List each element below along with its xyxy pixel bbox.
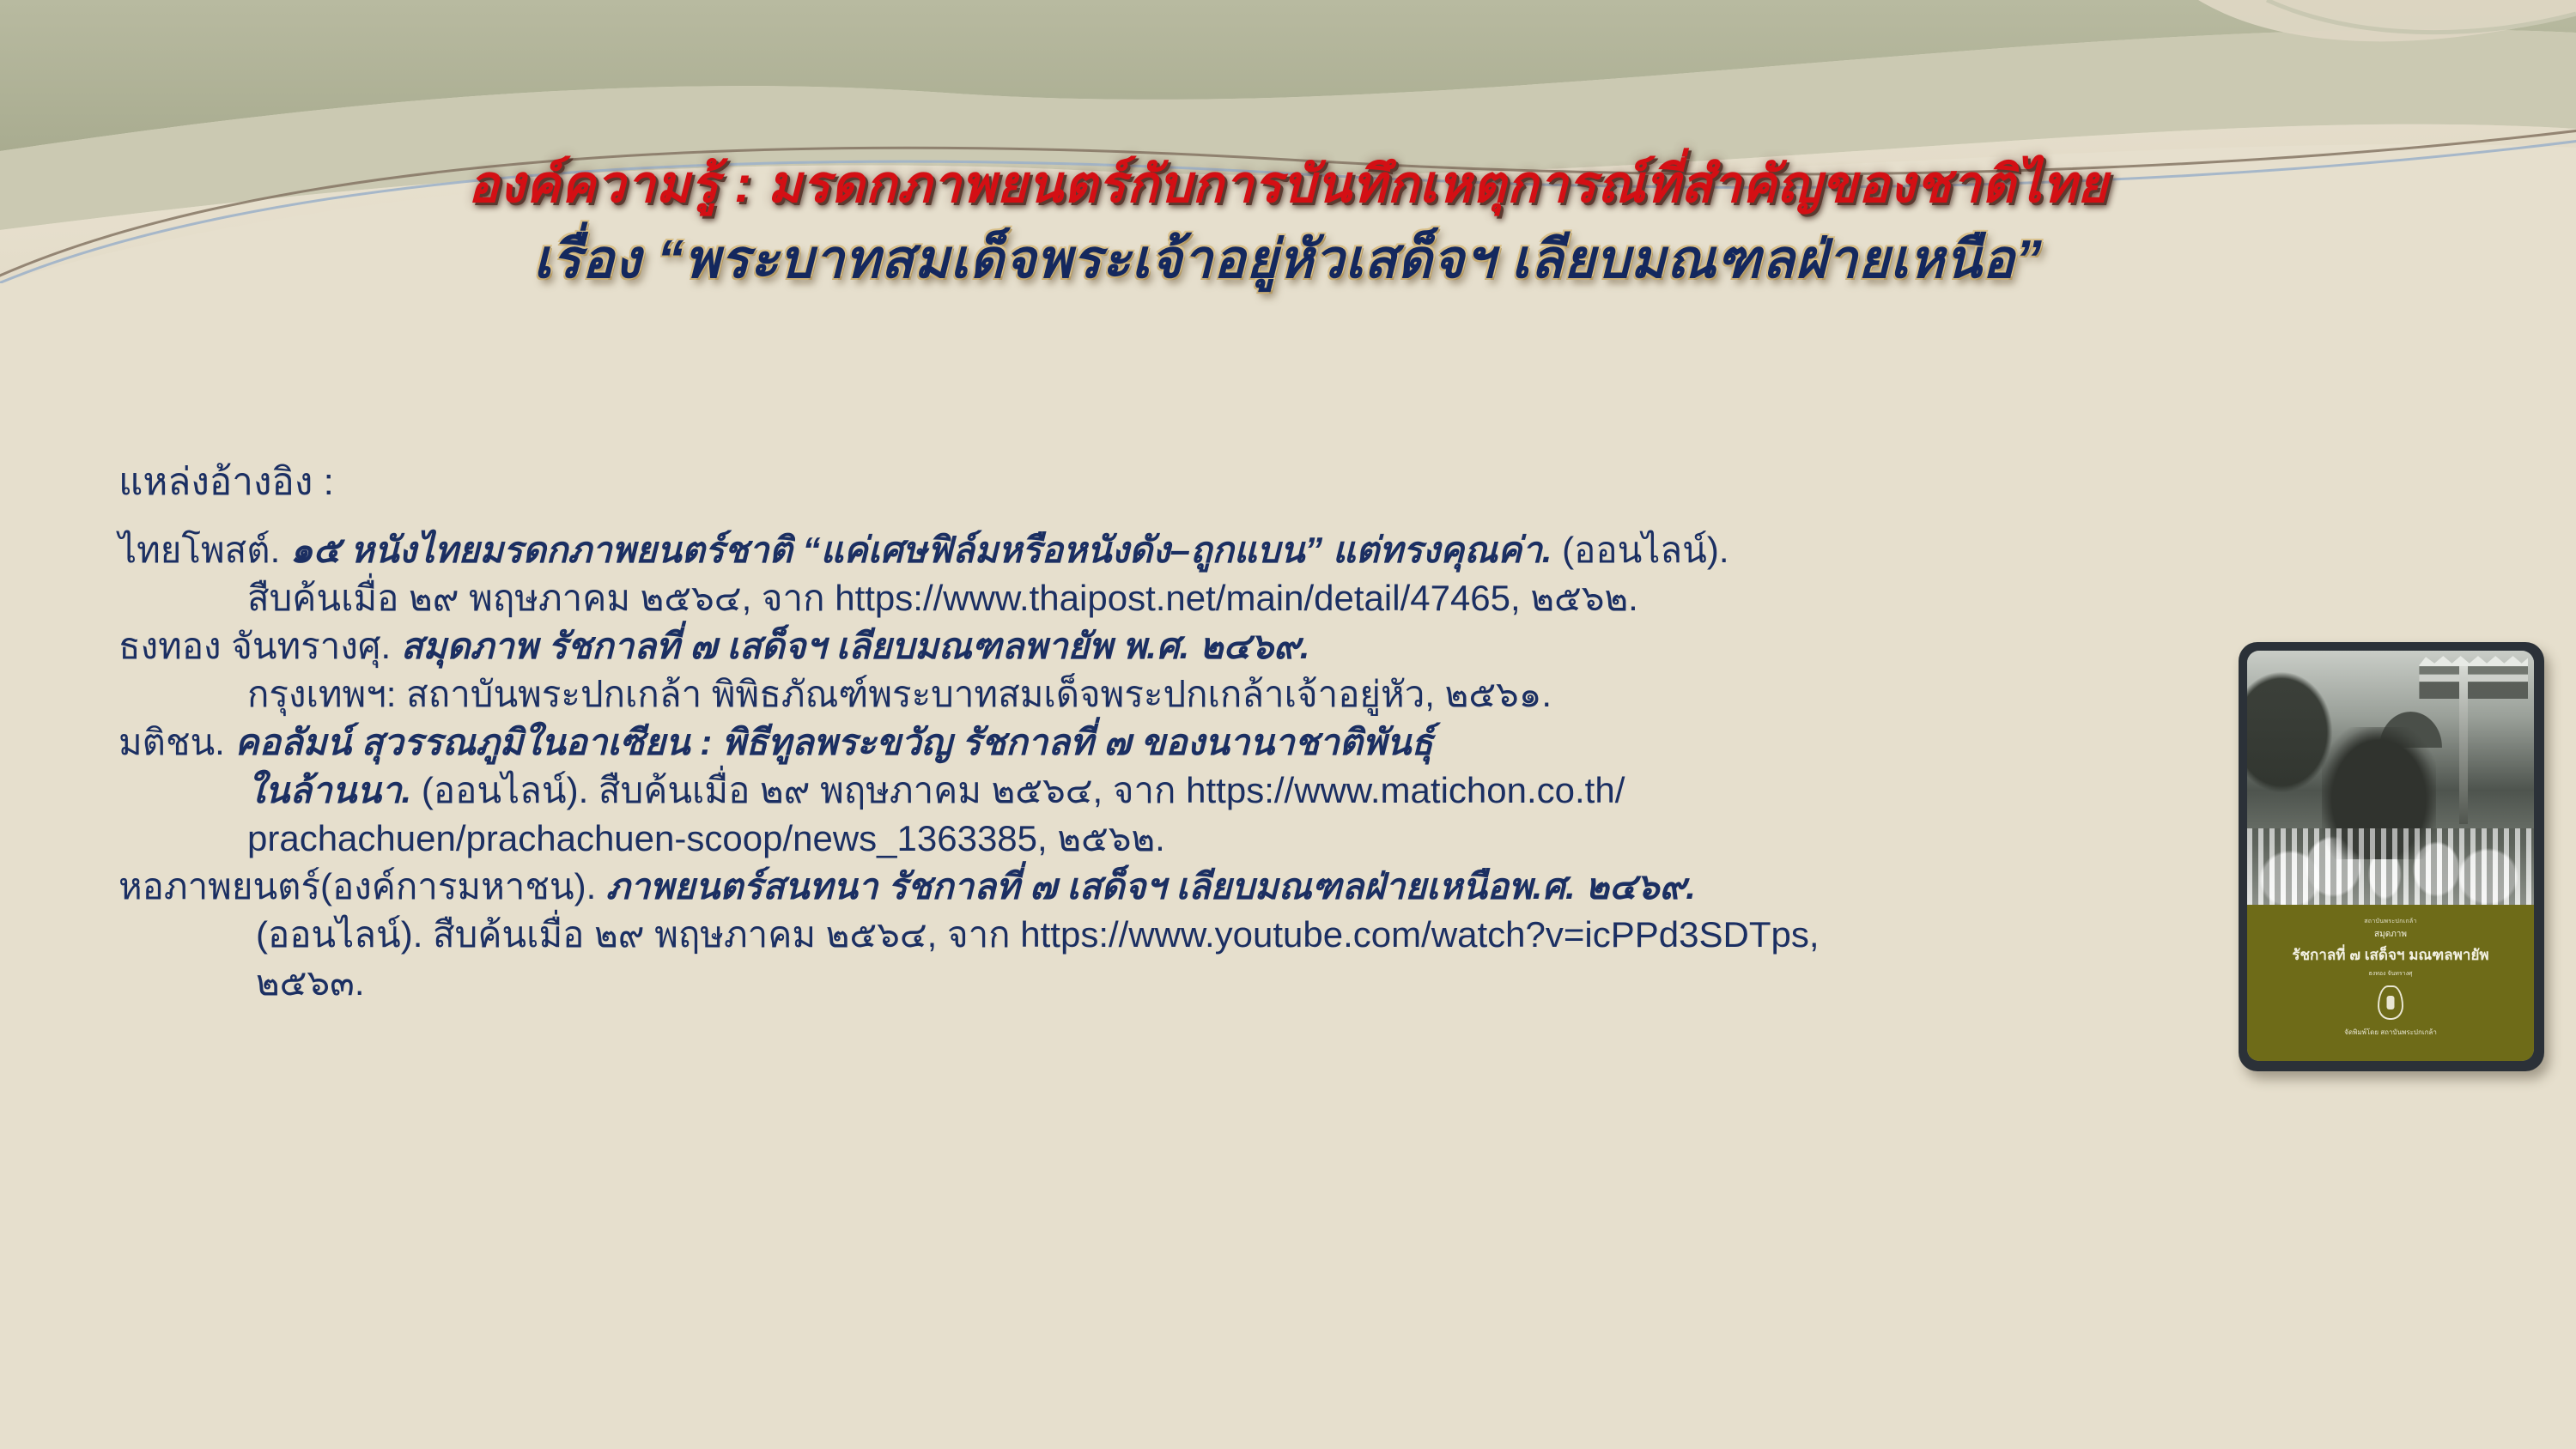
title-line-1: องค์ความรู้ : มรดกภาพยนตร์กับการบันทึกเห… xyxy=(0,153,2576,215)
reference-text: ธงทอง จันทรางศุ. xyxy=(118,626,401,666)
references-heading: แหล่งอ้างอิง : xyxy=(118,464,2437,501)
reference-text: สืบค้นเมื่อ ๒๙ พฤษภาคม ๒๕๖๔, จาก https:/… xyxy=(247,578,1638,618)
reference-line: สืบค้นเมื่อ ๒๙ พฤษภาคม ๒๕๖๔, จาก https:/… xyxy=(118,575,2437,621)
reference-line: ไทยโพสต์. ๑๕ หนังไทยมรดกภาพยนตร์ชาติ “แค… xyxy=(118,527,2437,573)
book-cover-title-band: สถาบันพระปกเกล้า สมุดภาพ รัชกาลที่ ๗ เสด… xyxy=(2247,905,2534,1061)
photo-crowd xyxy=(2247,828,2534,905)
reference-text: (ออนไลน์). สืบค้นเมื่อ ๒๙ พฤษภาคม ๒๕๖๔, … xyxy=(256,914,1820,955)
book-cover-thumbnail: สถาบันพระปกเกล้า สมุดภาพ รัชกาลที่ ๗ เสด… xyxy=(2239,642,2544,1071)
reference-text: มติชน. xyxy=(118,722,235,762)
book-publisher: จัดพิมพ์โดย สถาบันพระปกเกล้า xyxy=(2247,1027,2534,1038)
reference-line: กรุงเทพฯ: สถาบันพระปกเกล้า พิพิธภัณฑ์พระ… xyxy=(118,671,2437,718)
book-main-title: รัชกาลที่ ๗ เสด็จฯ มณฑลพายัพ xyxy=(2247,943,2534,967)
slide-canvas: องค์ความรู้ : มรดกภาพยนตร์กับการบันทึกเห… xyxy=(0,0,2576,1449)
reference-title-text: ในล้านนา. xyxy=(247,770,411,810)
reference-entry: ไทยโพสต์. ๑๕ หนังไทยมรดกภาพยนตร์ชาติ “แค… xyxy=(118,527,2437,621)
book-cover-inner: สถาบันพระปกเกล้า สมุดภาพ รัชกาลที่ ๗ เสด… xyxy=(2247,651,2534,1061)
reference-text: ๒๕๖๓. xyxy=(256,962,365,1003)
reference-title-text: สมุดภาพ รัชกาลที่ ๗ เสด็จฯ เลียบมณฑลพายั… xyxy=(401,626,1310,666)
slide-title-block: องค์ความรู้ : มรดกภาพยนตร์กับการบันทึกเห… xyxy=(0,153,2576,293)
reference-text: หอภาพยนตร์(องค์การมหาชน). xyxy=(118,866,606,906)
book-subtitle: ธงทอง จันทรางศุ xyxy=(2247,969,2534,979)
reference-text: กรุงเทพฯ: สถาบันพระปกเกล้า พิพิธภัณฑ์พระ… xyxy=(247,674,1552,714)
institute-seal-icon xyxy=(2378,985,2403,1020)
photo-archway xyxy=(2419,653,2528,699)
reference-title-text: ภาพยนตร์สนทนา รัชกาลที่ ๗ เสด็จฯ เลียบมณ… xyxy=(606,866,1696,906)
reference-line: ๒๕๖๓. xyxy=(118,960,2437,1006)
reference-text: ไทยโพสต์. xyxy=(118,530,290,570)
title-line-2: เรื่อง “พระบาทสมเด็จพระเจ้าอยู่หัวเสด็จฯ… xyxy=(0,227,2576,293)
reference-line: ในล้านนา. (ออนไลน์). สืบค้นเมื่อ ๒๙ พฤษภ… xyxy=(118,767,2437,814)
photo-pole xyxy=(2459,666,2468,824)
reference-line: (ออนไลน์). สืบค้นเมื่อ ๒๙ พฤษภาคม ๒๕๖๔, … xyxy=(118,912,2437,958)
reference-line: ธงทอง จันทรางศุ. สมุดภาพ รัชกาลที่ ๗ เสด… xyxy=(118,623,2437,670)
reference-entry: หอภาพยนตร์(องค์การมหาชน). ภาพยนตร์สนทนา … xyxy=(118,864,2437,1006)
book-cover-photo xyxy=(2247,651,2534,905)
book-imprint-top: สถาบันพระปกเกล้า xyxy=(2247,917,2534,926)
reference-title-text: ๑๕ หนังไทยมรดกภาพยนตร์ชาติ “แค่เศษฟิล์มห… xyxy=(290,530,1552,570)
reference-line: หอภาพยนตร์(องค์การมหาชน). ภาพยนตร์สนทนา … xyxy=(118,864,2437,910)
reference-entry: ธงทอง จันทรางศุ. สมุดภาพ รัชกาลที่ ๗ เสด… xyxy=(118,623,2437,718)
reference-title-text: คอลัมน์ สุวรรณภูมิในอาเซียน : พิธีทูลพระ… xyxy=(235,722,1433,762)
reference-text: (ออนไลน์). สืบค้นเมื่อ ๒๙ พฤษภาคม ๒๕๖๔, … xyxy=(411,770,1625,810)
reference-line: มติชน. คอลัมน์ สุวรรณภูมิในอาเซียน : พิธ… xyxy=(118,719,2437,766)
photo-trees xyxy=(2247,671,2333,793)
book-kind: สมุดภาพ xyxy=(2247,928,2534,941)
reference-line: prachachuen/prachachuen-scoop/news_13633… xyxy=(118,815,2437,862)
reference-entry: มติชน. คอลัมน์ สุวรรณภูมิในอาเซียน : พิธ… xyxy=(118,719,2437,862)
references-block: แหล่งอ้างอิง : ไทยโพสต์. ๑๕ หนังไทยมรดกภ… xyxy=(118,464,2437,1008)
reference-list: ไทยโพสต์. ๑๕ หนังไทยมรดกภาพยนตร์ชาติ “แค… xyxy=(118,527,2437,1006)
reference-text: prachachuen/prachachuen-scoop/news_13633… xyxy=(247,818,1165,858)
reference-text: (ออนไลน์). xyxy=(1552,530,1728,570)
